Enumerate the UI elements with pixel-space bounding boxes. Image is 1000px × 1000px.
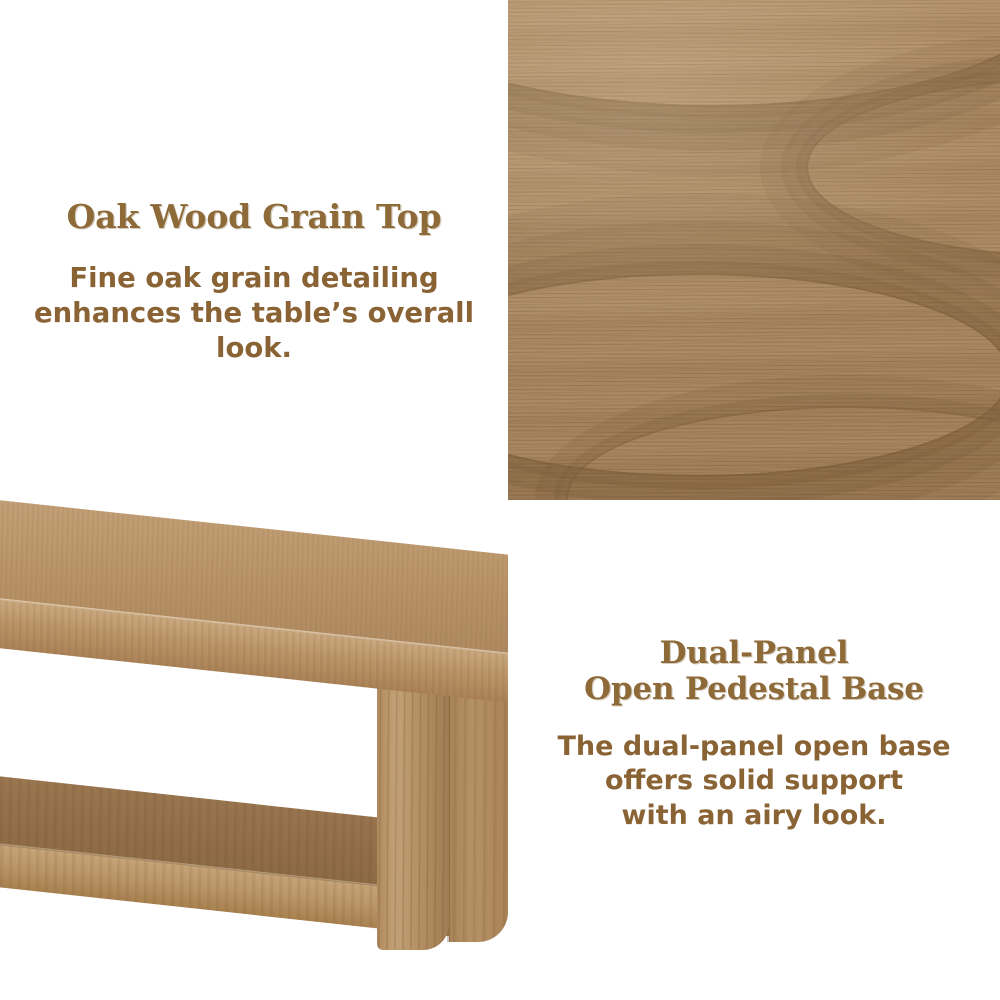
oak-top-text-block: Oak Wood Grain Top Fine oak grain detail… [0,198,508,366]
feature-collage: Oak Wood Grain Top Fine oak grain detail… [0,0,1000,1000]
pedestal-base-heading-line-1: Dual-Panel [508,635,1000,671]
pedestal-base-body-line-1: The dual-panel open base [508,730,1000,765]
oak-top-body: Fine oak grain detailing enhances the ta… [0,261,508,367]
pedestal-base-heading-line-2: Open Pedestal Base [508,671,1000,707]
pedestal-base-body-line-2: offers solid support [508,764,1000,799]
pedestal-base-detail-image [0,500,508,1000]
table-photo-scene [0,500,508,1000]
oak-top-body-line-2: enhances the table’s overall look. [0,296,508,366]
pedestal-base-body: The dual-panel open base offers solid su… [508,730,1000,834]
feature-panel-oak-top: Oak Wood Grain Top Fine oak grain detail… [0,0,508,500]
pedestal-base-text-block: Dual-Panel Open Pedestal Base The dual-p… [508,635,1000,833]
oak-grain-closeup-image [508,0,1000,500]
oak-top-body-line-1: Fine oak grain detailing [0,261,508,296]
wood-texture-surface [508,0,1000,500]
feature-panel-pedestal-base: Dual-Panel Open Pedestal Base The dual-p… [508,500,1000,1000]
oak-top-heading: Oak Wood Grain Top [0,198,508,237]
pedestal-base-heading: Dual-Panel Open Pedestal Base [508,635,1000,708]
wood-lighting-overlay [508,0,1000,500]
pedestal-base-body-line-3: with an airy look. [508,799,1000,834]
